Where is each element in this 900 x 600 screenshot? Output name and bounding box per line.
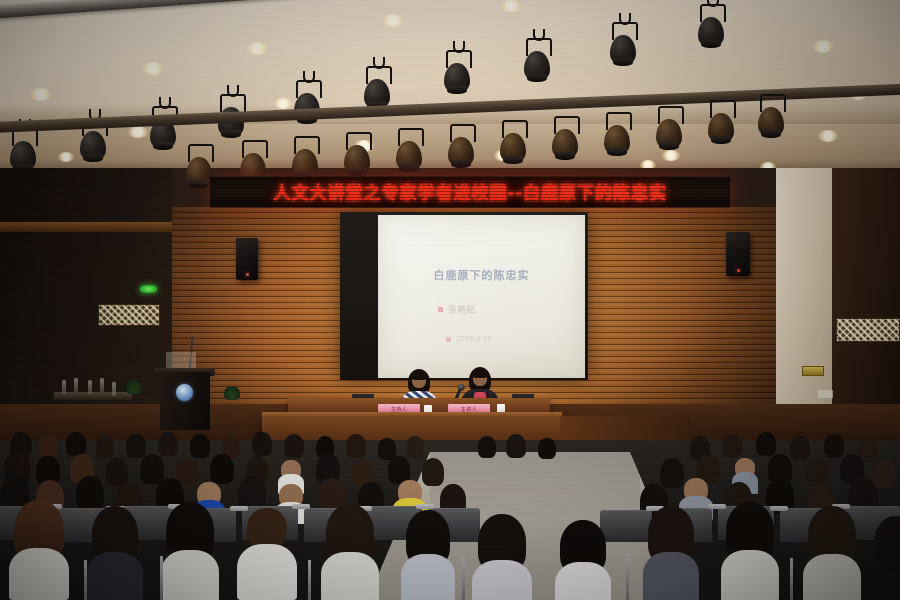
right-lattice-window (836, 318, 900, 342)
audience-member (560, 520, 606, 582)
audience-member (406, 510, 450, 574)
seat-leg (790, 558, 793, 600)
audience-member (478, 514, 526, 580)
downlight (58, 152, 74, 162)
bottle (74, 378, 78, 392)
exit-sign-icon (140, 285, 157, 293)
left-wall-trim (0, 222, 172, 232)
audience-member (506, 434, 526, 462)
seat-armrest (416, 504, 434, 509)
seat-leg (84, 560, 87, 600)
auditorium-photo: 人文大讲堂之专家学者进校园--白鹿原下的陈忠实 白鹿原下的陈忠实 张艳茹 201… (0, 0, 900, 600)
seat-armrest (292, 504, 310, 509)
bottle (62, 380, 66, 394)
seat-leg (626, 554, 629, 600)
wall-speaker-left (236, 238, 258, 280)
fringe (411, 371, 427, 380)
downlight (382, 14, 404, 27)
audience-member (284, 434, 304, 462)
seat-leg (160, 556, 163, 600)
left-lattice-window (98, 304, 160, 326)
seat-leg (462, 558, 465, 600)
slide-bullet-2: 2016.4.18 (446, 335, 492, 343)
audience-member (326, 504, 374, 574)
podium (160, 372, 210, 430)
audience-member (14, 500, 64, 572)
fringe (472, 369, 488, 378)
slide-bullet-2-text: 2016.4.18 (456, 335, 492, 343)
downlight (246, 42, 268, 55)
wall-sign (818, 390, 833, 398)
audience-member (166, 502, 214, 572)
seat-armrest (708, 504, 726, 509)
slide-bullet-1: 张艳茹 (438, 303, 475, 316)
downlight (662, 150, 680, 161)
seat-leg (308, 560, 311, 600)
projection-screen: 白鹿原下的陈忠实 张艳茹 2016.4.18 (378, 215, 585, 378)
audience-member (808, 506, 856, 576)
audience-member (92, 506, 138, 574)
auditorium-seat[interactable] (600, 510, 652, 542)
wall-plaque (802, 366, 824, 376)
downlight (818, 130, 838, 142)
bottle (100, 378, 104, 392)
potted-plant (224, 386, 240, 400)
downlight (128, 126, 148, 138)
right-column (776, 168, 832, 440)
audience-member (874, 516, 900, 580)
audience-member (538, 438, 556, 462)
potted-plant (126, 380, 142, 394)
downlight (142, 62, 164, 75)
audience-member (726, 502, 774, 572)
bottle (112, 382, 116, 396)
downlight (30, 88, 52, 101)
led-banner: 人文大讲堂之专家学者进校园--白鹿原下的陈忠实 (210, 176, 730, 208)
right-dark-wall (832, 168, 900, 440)
downlight (500, 0, 522, 12)
audience-member (478, 436, 496, 462)
bottle (88, 380, 92, 394)
bullet-dot-icon (438, 307, 443, 312)
downlight (274, 98, 292, 109)
downlight (812, 40, 834, 53)
bullet-dot-icon (446, 337, 451, 342)
audience-member (648, 506, 694, 574)
audience-member (244, 508, 290, 574)
slide-title: 白鹿原下的陈忠实 (378, 267, 585, 283)
wall-speaker-right (726, 232, 750, 276)
university-emblem-icon (176, 384, 193, 401)
led-banner-text: 人文大讲堂之专家学者进校园--白鹿原下的陈忠实 (273, 180, 667, 205)
slide-bullet-1-text: 张艳茹 (448, 303, 475, 316)
